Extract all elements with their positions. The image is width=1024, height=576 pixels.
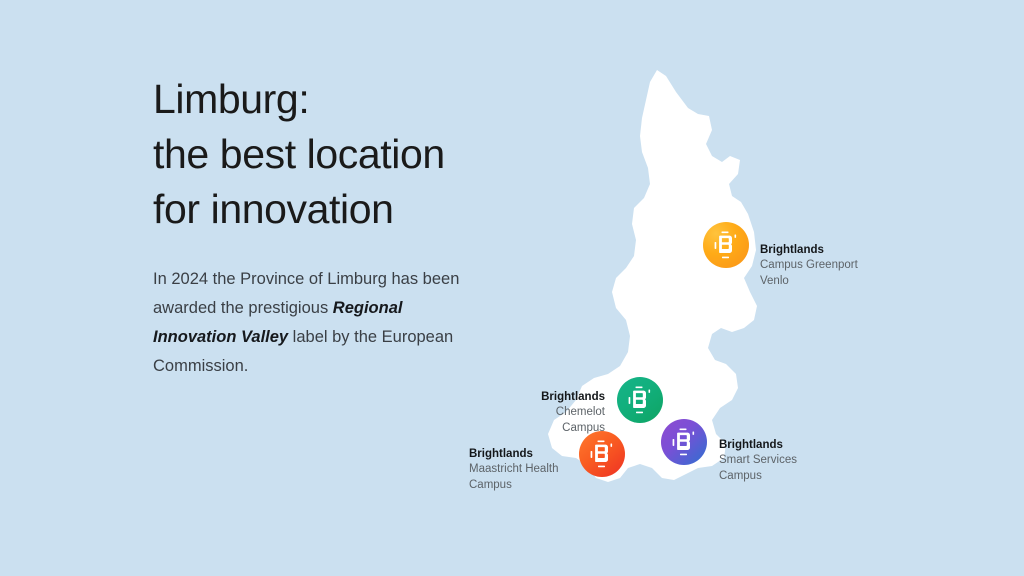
brightlands-b-logo-icon [713,231,739,259]
label-venlo-line3: Venlo [760,275,789,287]
label-maastricht-health: BrightlandsMaastricht HealthCampus [469,431,609,493]
label-maastricht-title: Brightlands [469,447,609,463]
label-smart-title: Brightlands [719,438,849,454]
marker-venlo[interactable] [703,222,749,268]
label-chemelot-title: Brightlands [470,390,605,406]
label-venlo: BrightlandsCampus GreenportVenlo [760,227,890,289]
label-smart-services: BrightlandsSmart ServicesCampus [719,422,849,484]
label-venlo-title: Brightlands [760,243,890,259]
slide-canvas: Limburg: the best location for innovatio… [0,0,1024,576]
label-chemelot: BrightlandsChemelotCampus [470,374,605,436]
body-text-before: In 2024 the Province of Limburg has been… [153,270,459,317]
label-smart-line2: Smart Services [719,454,797,466]
marker-smart-services[interactable] [661,419,707,465]
marker-chemelot[interactable] [617,377,663,423]
label-chemelot-line2: Chemelot [556,406,605,418]
brightlands-b-logo-icon [671,428,697,456]
label-venlo-line2: Campus Greenport [760,259,858,271]
label-maastricht-line2: Maastricht Health [469,463,558,475]
body-paragraph: In 2024 the Province of Limburg has been… [153,265,473,381]
brightlands-b-logo-icon [627,386,653,414]
label-smart-line3: Campus [719,470,762,482]
label-maastricht-line3: Campus [469,479,512,491]
page-title: Limburg: the best location for innovatio… [153,72,573,237]
